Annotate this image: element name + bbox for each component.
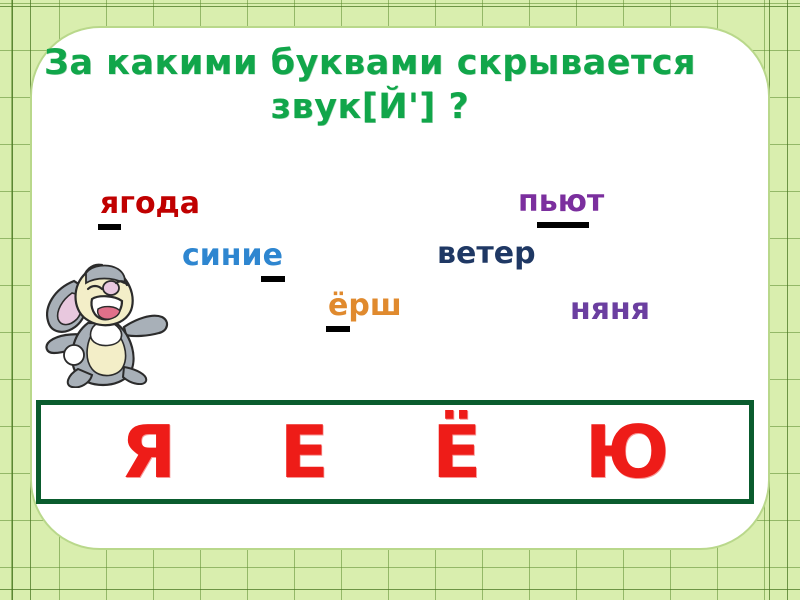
grid-line-horizontal — [0, 6, 800, 7]
word-yagoda-rest: года — [119, 186, 200, 221]
word-sinie[interactable]: синие — [182, 238, 283, 273]
answer-letter-ya[interactable]: Я — [121, 416, 176, 488]
title-line-2: звук[Й'] ? — [40, 86, 700, 130]
word-yagoda[interactable]: ягода — [100, 186, 200, 221]
grid-line-horizontal — [0, 589, 800, 590]
word-sinie-prefix: сини — [182, 238, 263, 273]
word-veter[interactable]: ветер — [437, 236, 536, 271]
word-pyut-rest: т — [587, 184, 604, 219]
word-pyut-marked-letter: ью — [539, 184, 587, 219]
word-pyut-prefix: п — [518, 184, 539, 219]
word-sinie-marked-letter: е — [263, 238, 283, 273]
answer-letter-ye[interactable]: Е — [280, 416, 329, 488]
answer-box: Я Е Ё Ю — [36, 400, 754, 504]
answer-letter-yu[interactable]: Ю — [585, 416, 670, 488]
title-line-1: За какими буквами скрывается — [44, 43, 696, 83]
rabbit-character-icon — [28, 243, 178, 388]
grid-line-vertical — [12, 0, 13, 600]
word-yorsh[interactable]: ёрш — [328, 288, 402, 323]
grid-line-vertical — [787, 0, 788, 600]
answer-letter-yo[interactable]: Ё — [432, 416, 481, 488]
word-pyut[interactable]: пьют — [518, 184, 604, 219]
word-yorsh-marked-letter: ё — [328, 288, 348, 323]
slide-root: За какими буквами скрывается звук[Й'] ? — [0, 0, 800, 600]
word-yagoda-marked-letter: я — [100, 186, 119, 221]
page-title: За какими буквами скрывается звук[Й'] ? — [40, 42, 700, 130]
word-yorsh-rest: рш — [348, 288, 401, 323]
word-nyanya[interactable]: няня — [570, 292, 650, 327]
